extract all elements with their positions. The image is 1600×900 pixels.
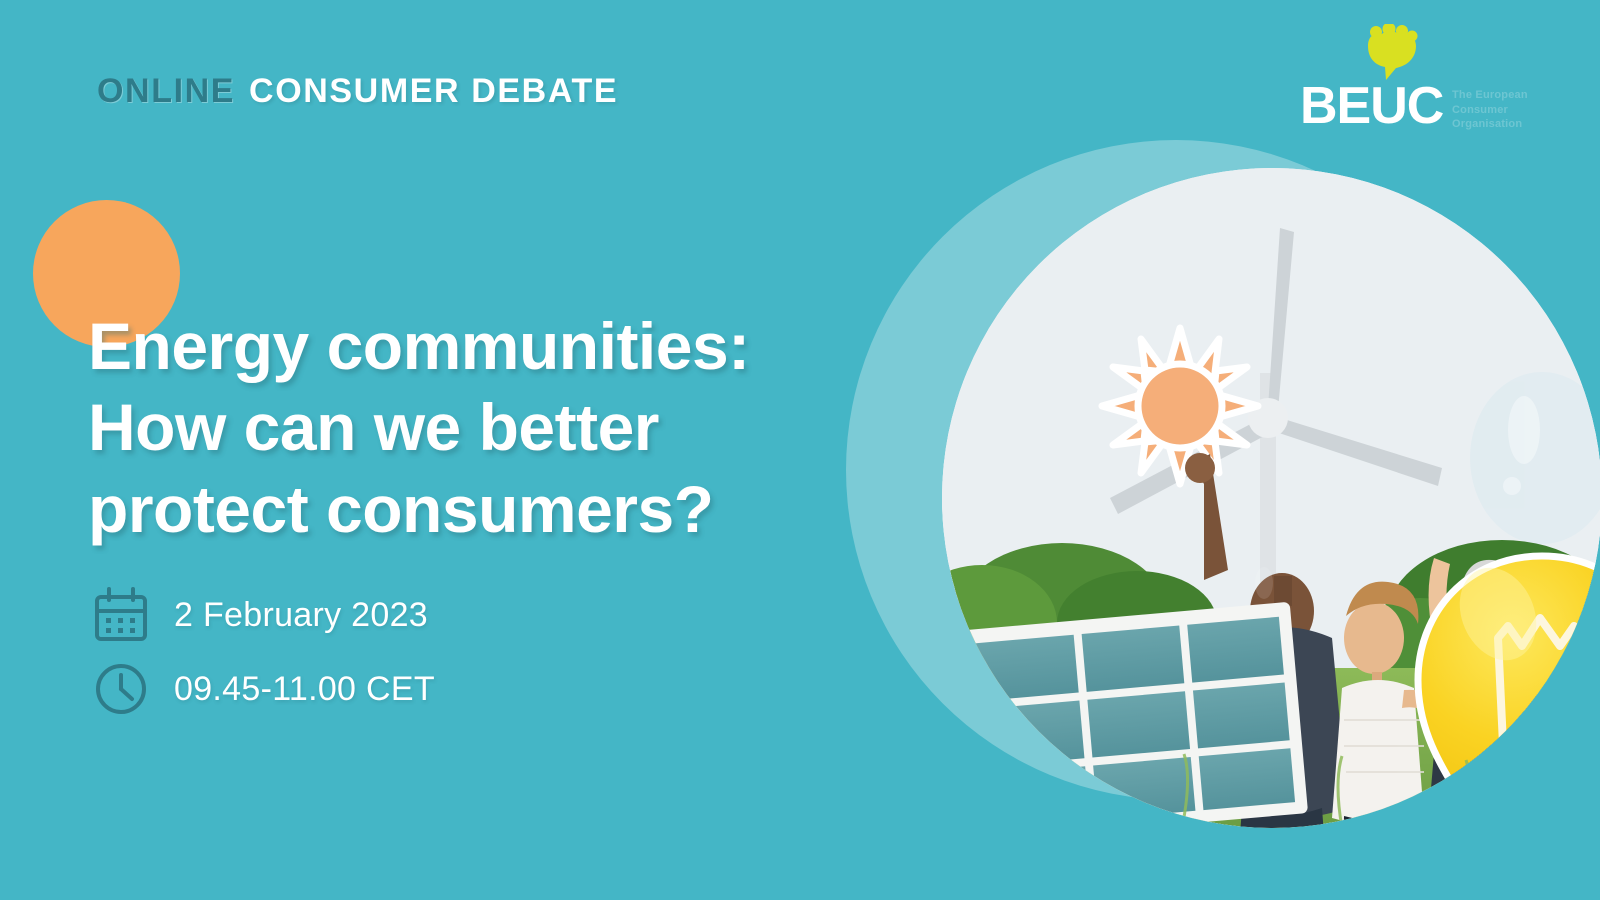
lightbulb-cutout — [1418, 556, 1600, 828]
solar-panel-cutout — [961, 602, 1308, 828]
event-date-row: 2 February 2023 — [92, 578, 435, 652]
event-details: 2 February 2023 09.45-11.00 CET — [92, 578, 435, 726]
event-photo — [942, 168, 1600, 828]
event-date-value: 2 February 2023 — [174, 596, 428, 635]
beuc-speech-bubble-people-icon — [1362, 24, 1424, 82]
calendar-icon — [92, 586, 150, 644]
artwork — [846, 140, 1546, 860]
header-kicker: ONLINE CONSUMER DEBATE — [97, 74, 618, 108]
promo-poster: ONLINE CONSUMER DEBATE BEUC The European… — [0, 0, 1600, 900]
beuc-tagline: The European Consumer Organisation — [1452, 88, 1528, 132]
headline-line-3: protect consumers? — [88, 469, 878, 550]
event-time-row: 09.45-11.00 CET — [92, 652, 435, 726]
headline-line-2: How can we better — [88, 387, 878, 468]
beuc-wordmark: BEUC — [1300, 80, 1443, 132]
beuc-logo[interactable]: BEUC The European Consumer Organisation — [1300, 24, 1530, 134]
headline-line-1: Energy communities: — [88, 306, 878, 387]
page-title: Energy communities: How can we better pr… — [88, 306, 878, 550]
event-time-value: 09.45-11.00 CET — [174, 670, 435, 709]
photo-illustration — [942, 168, 1600, 828]
kicker-main-label: CONSUMER DEBATE — [249, 74, 618, 108]
clock-icon — [92, 660, 150, 718]
kicker-online-label: ONLINE — [97, 74, 235, 108]
